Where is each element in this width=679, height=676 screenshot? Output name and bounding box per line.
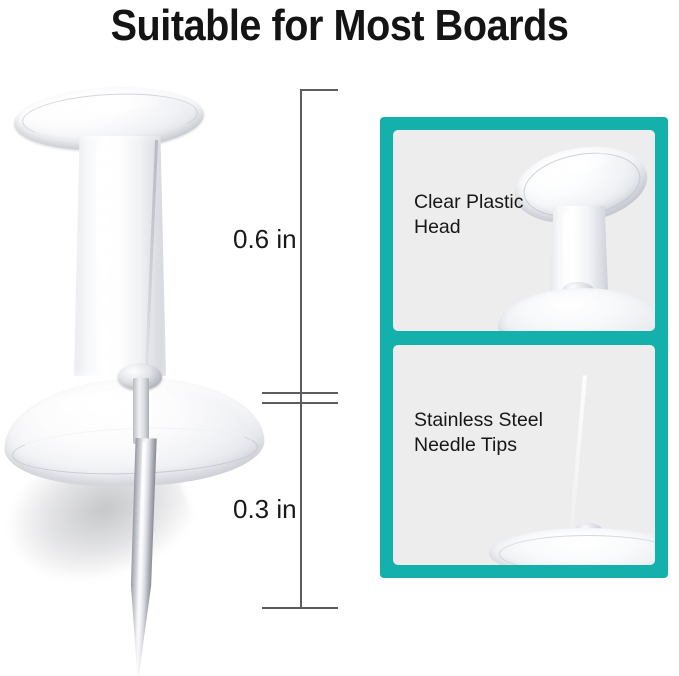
feature-panel-stainless-steel-needle: Stainless Steel Needle Tips <box>393 345 655 565</box>
dimension-tick-middle-lower <box>262 402 338 404</box>
dimension-tick-top <box>300 89 338 91</box>
pin-stem-highlight-icon <box>96 144 109 370</box>
infographic-canvas: Suitable for Most Boards 0.6 in 0.3 in <box>0 0 679 618</box>
dimension-label-head: 0.6 in <box>233 224 297 255</box>
feature-label-clear-plastic-head: Clear Plastic Head <box>414 190 523 240</box>
feature-panel-clear-plastic-head: Clear Plastic Head <box>393 130 655 331</box>
dimension-tick-middle-upper <box>262 392 338 394</box>
clear-head-base-icon <box>498 288 655 331</box>
dimension-label-needle: 0.3 in <box>233 494 297 525</box>
dimension-tick-bottom <box>262 607 338 609</box>
product-illustration <box>0 78 300 618</box>
feature-panel-frame: Clear Plastic Head Stainless Steel Needl… <box>380 117 668 578</box>
pin-metal-shaft-icon <box>133 378 149 444</box>
page-title: Suitable for Most Boards <box>34 2 645 50</box>
feature-label-stainless-steel-needle: Stainless Steel Needle Tips <box>414 408 543 458</box>
dimension-rule <box>300 90 302 609</box>
